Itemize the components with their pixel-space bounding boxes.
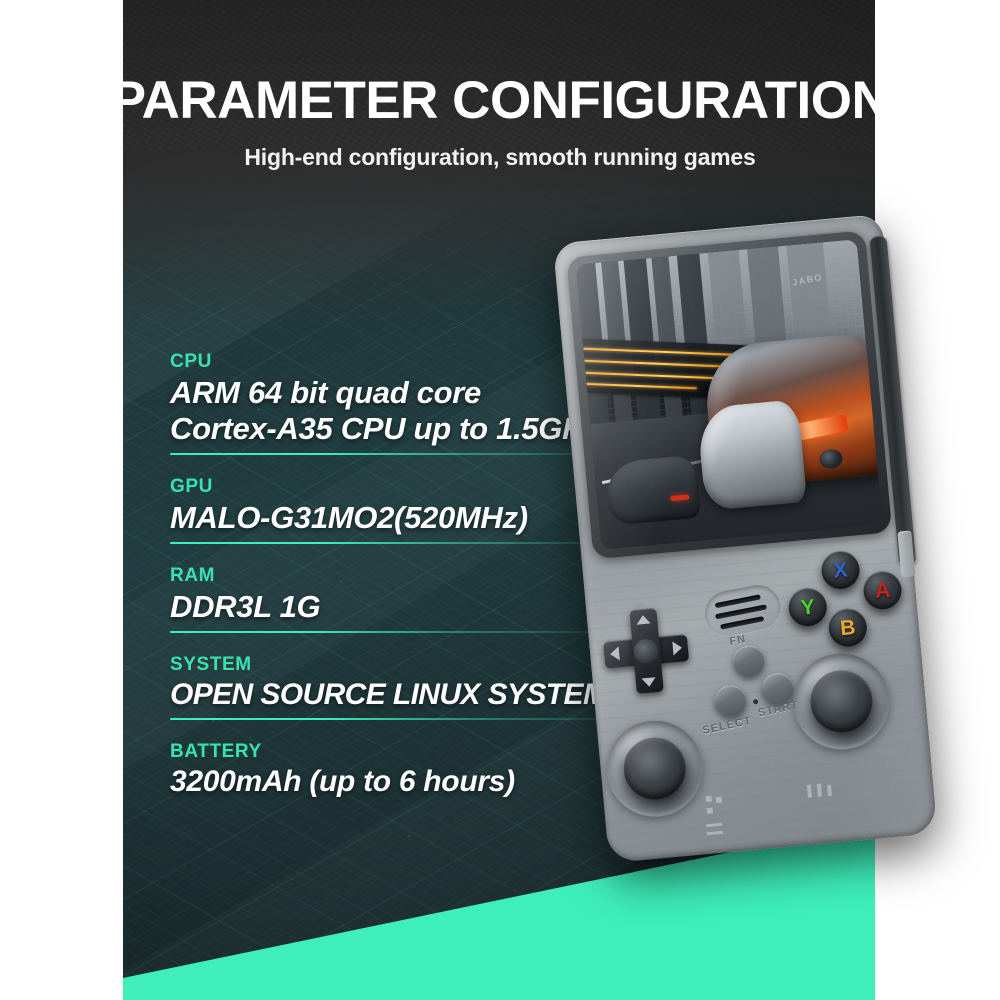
spec-divider-ram bbox=[170, 631, 622, 633]
spec-value-battery: 3200mAh (up to 6 hours) bbox=[170, 765, 640, 800]
grille-slot bbox=[720, 616, 764, 629]
button-b-label: B bbox=[839, 616, 856, 638]
spec-row-system: SYSTEM OPEN SOURCE LINUX SYSTEM bbox=[170, 655, 640, 721]
page-title: PARAMETER CONFIGURATION bbox=[0, 74, 1000, 127]
handheld-game-console: JABO bbox=[553, 214, 938, 863]
screen-glass-reflection bbox=[576, 239, 883, 549]
console-screen[interactable]: JABO bbox=[576, 239, 883, 549]
product-spec-slide: PARAMETER CONFIGURATION High-end configu… bbox=[0, 0, 1000, 1000]
vent-mark bbox=[807, 785, 812, 798]
spec-divider-cpu bbox=[170, 453, 622, 455]
dpad-up-icon[interactable] bbox=[636, 614, 651, 624]
spec-label-battery: BATTERY bbox=[170, 742, 640, 762]
spec-label-system: SYSTEM bbox=[170, 655, 640, 675]
dpad-right-icon[interactable] bbox=[672, 641, 682, 656]
left-stick-cap[interactable] bbox=[621, 735, 688, 802]
vent-mark bbox=[707, 808, 714, 815]
header-block: PARAMETER CONFIGURATION High-end configu… bbox=[0, 74, 1000, 171]
vent-mark bbox=[705, 796, 712, 803]
screen-bezel: JABO bbox=[566, 229, 892, 559]
spec-label-gpu: GPU bbox=[170, 477, 640, 497]
spec-row-gpu: GPU MALO-G31MO2(520MHz) bbox=[170, 477, 640, 544]
button-y-label: Y bbox=[800, 596, 816, 618]
spec-divider-system bbox=[170, 718, 622, 720]
dpad-left-icon[interactable] bbox=[610, 646, 620, 661]
spec-value-system: OPEN SOURCE LINUX SYSTEM bbox=[170, 678, 640, 713]
spec-divider-gpu bbox=[170, 542, 622, 544]
vent-mark bbox=[827, 785, 832, 796]
right-stick-cap[interactable] bbox=[808, 668, 875, 735]
spec-value-gpu: MALO-G31MO2(520MHz) bbox=[170, 500, 640, 536]
vent-mark bbox=[707, 831, 723, 835]
vent-mark bbox=[817, 784, 822, 797]
button-x-label: X bbox=[833, 559, 849, 581]
vent-mark bbox=[706, 823, 722, 827]
dpad[interactable] bbox=[600, 605, 691, 696]
button-a-label: A bbox=[874, 579, 891, 601]
spec-row-ram: RAM DDR3L 1G bbox=[170, 566, 640, 633]
page-subtitle: High-end configuration, smooth running g… bbox=[0, 144, 1000, 171]
spec-label-ram: RAM bbox=[170, 566, 640, 586]
spec-row-battery: BATTERY 3200mAh (up to 6 hours) bbox=[170, 742, 640, 800]
vent-mark bbox=[716, 797, 723, 804]
spec-value-ram: DDR3L 1G bbox=[170, 589, 640, 625]
dpad-down-icon[interactable] bbox=[642, 677, 657, 687]
